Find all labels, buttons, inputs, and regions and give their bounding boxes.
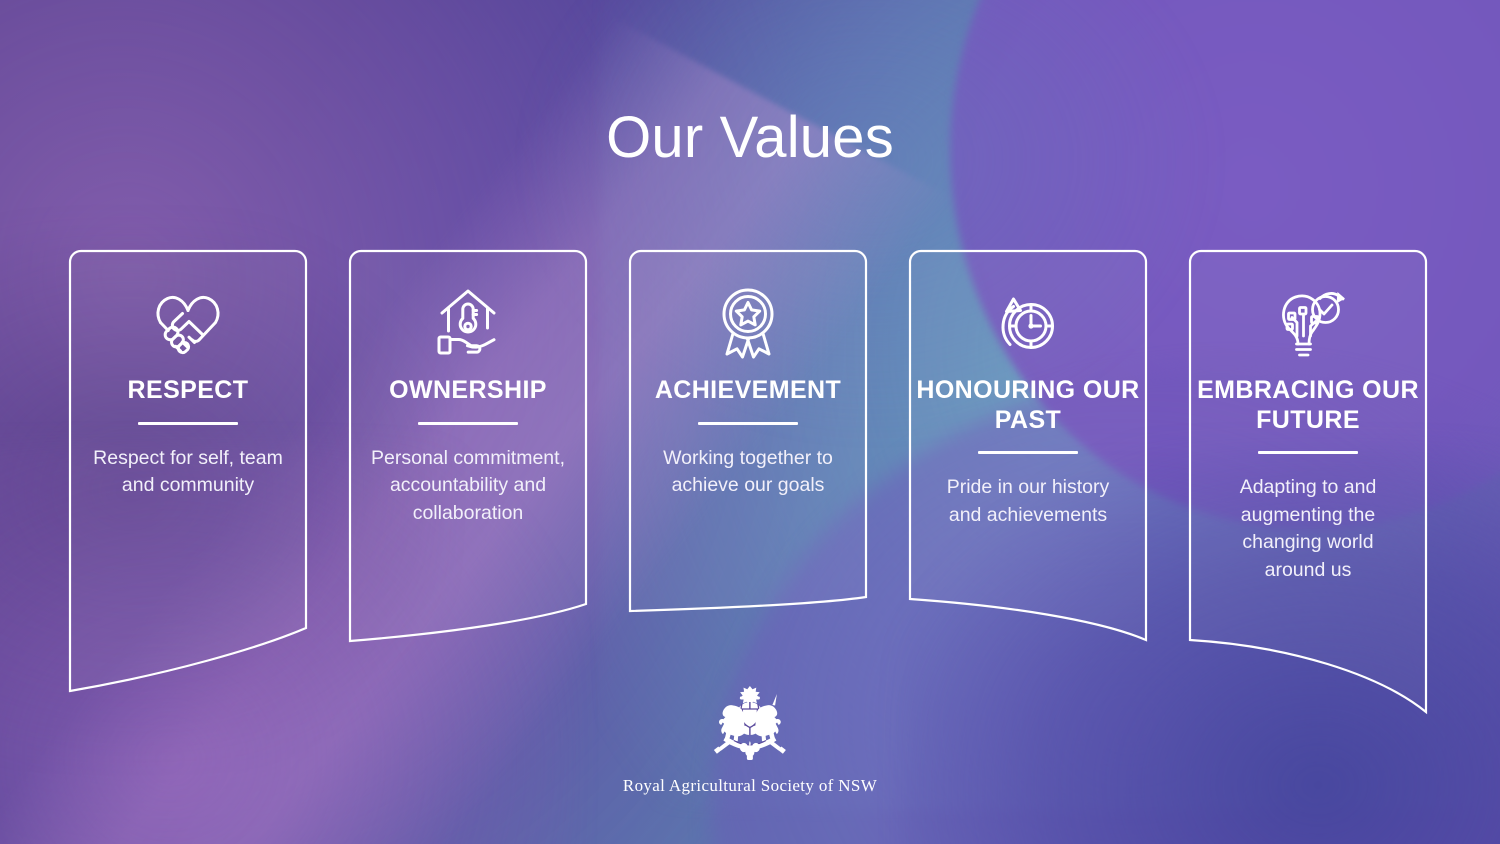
value-description: Pride in our history and achievements bbox=[912, 474, 1144, 529]
value-title: HONOURING OUR PAST bbox=[909, 376, 1147, 435]
handshake-heart-icon bbox=[146, 282, 230, 366]
value-divider bbox=[698, 422, 798, 425]
value-divider bbox=[1258, 451, 1358, 454]
clock-rewind-icon bbox=[986, 282, 1070, 366]
value-divider bbox=[418, 422, 518, 425]
value-description: Respect for self, team and community bbox=[72, 445, 304, 500]
value-description: Adapting to and augmenting the changing … bbox=[1192, 474, 1424, 585]
value-title: OWNERSHIP bbox=[383, 376, 553, 406]
value-divider bbox=[978, 451, 1078, 454]
value-title: ACHIEVEMENT bbox=[649, 376, 847, 406]
organisation-name: Royal Agricultural Society of NSW bbox=[623, 776, 877, 796]
house-key-in-hand-icon bbox=[426, 282, 510, 366]
value-content-ownership: OWNERSHIP Personal commitment, accountab… bbox=[349, 250, 587, 528]
royal-agricultural-society-crest-icon bbox=[696, 683, 804, 769]
value-divider bbox=[138, 422, 238, 425]
lightbulb-circuit-arrow-icon bbox=[1266, 282, 1350, 366]
value-content-honouring-our-past: HONOURING OUR PAST Pride in our history … bbox=[909, 250, 1147, 529]
value-content-achievement: ACHIEVEMENT Working together to achieve … bbox=[629, 250, 867, 500]
value-content-respect: RESPECT Respect for self, team and commu… bbox=[69, 250, 307, 500]
value-title: RESPECT bbox=[122, 376, 255, 406]
award-rosette-star-icon bbox=[706, 282, 790, 366]
value-description: Working together to achieve our goals bbox=[632, 445, 864, 500]
value-description: Personal commitment, accountability and … bbox=[352, 445, 584, 528]
value-title: EMBRACING OUR FUTURE bbox=[1189, 376, 1427, 435]
value-content-embracing-our-future: EMBRACING OUR FUTURE Adapting to and aug… bbox=[1189, 250, 1427, 585]
footer-logo: Royal Agricultural Society of NSW bbox=[623, 683, 877, 796]
